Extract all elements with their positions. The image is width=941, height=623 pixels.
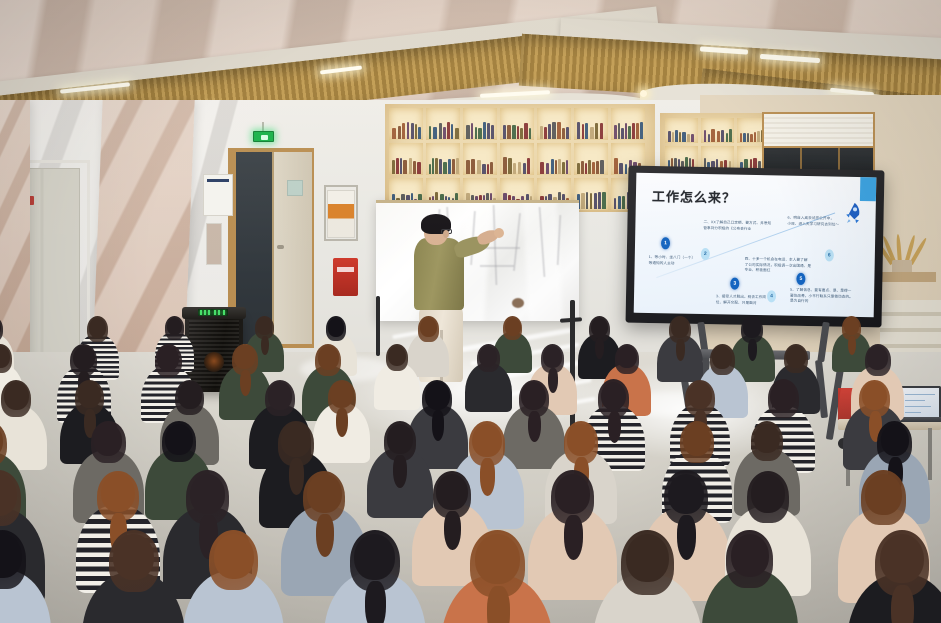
audience-member-ponytail — [487, 586, 510, 623]
audience-member-hair — [710, 344, 735, 375]
audience-member-hair — [87, 316, 108, 342]
audience-member-hair — [315, 344, 341, 376]
audience-member-hair — [155, 344, 182, 377]
audience-member-hair — [861, 470, 906, 525]
audience-member-ponytail — [261, 336, 269, 355]
seated-audience — [0, 0, 941, 623]
audience-member-hair — [726, 530, 773, 588]
audience-member-hair — [477, 344, 500, 372]
audience-member-hair — [162, 421, 195, 462]
audience-member-hair — [109, 530, 159, 592]
audience-member-ponytail — [608, 411, 621, 443]
audience-member-ponytail — [528, 411, 541, 442]
audience-member-hair — [418, 316, 439, 341]
audience-member-hair — [865, 344, 891, 376]
audience-member-ponytail — [365, 581, 386, 623]
audience-member-hair — [621, 530, 674, 595]
audience-member-hair — [326, 316, 346, 341]
audience-member-hair — [386, 344, 408, 371]
audience-member-ponytail — [891, 585, 914, 623]
audience-member-hair — [209, 530, 258, 590]
audience-member-hair — [615, 344, 639, 374]
audience-member-ponytail — [548, 368, 558, 392]
audience-member-hair — [165, 316, 184, 339]
audience-member-hair — [751, 421, 783, 460]
audience-member-hair — [503, 316, 522, 340]
audience-member-hair — [91, 421, 125, 463]
audience-member-hair — [1, 380, 32, 418]
audience-member-ponytail — [316, 514, 334, 557]
audience-member-ponytail — [336, 408, 348, 437]
audience-member-ponytail — [444, 511, 461, 551]
audience-member-ponytail — [289, 458, 304, 495]
audience-member-ponytail — [240, 370, 251, 396]
audience-member-hair — [768, 379, 799, 418]
photo-scene: 工作怎么来？ 1 2 3 4 5 6 1、等小时、坐八门（一个） 等通知的人主动… — [0, 0, 941, 623]
audience-member-hair — [784, 344, 808, 373]
audience-member-hair — [175, 380, 204, 416]
audience-member-hair — [265, 380, 295, 417]
audience-member-hair — [680, 421, 714, 463]
audience-member-ponytail — [848, 336, 856, 355]
audience-member-ponytail — [564, 515, 583, 560]
audience-member-hair — [747, 471, 789, 523]
audience-member-ponytail — [677, 515, 696, 560]
audience-member-ponytail — [480, 458, 496, 495]
